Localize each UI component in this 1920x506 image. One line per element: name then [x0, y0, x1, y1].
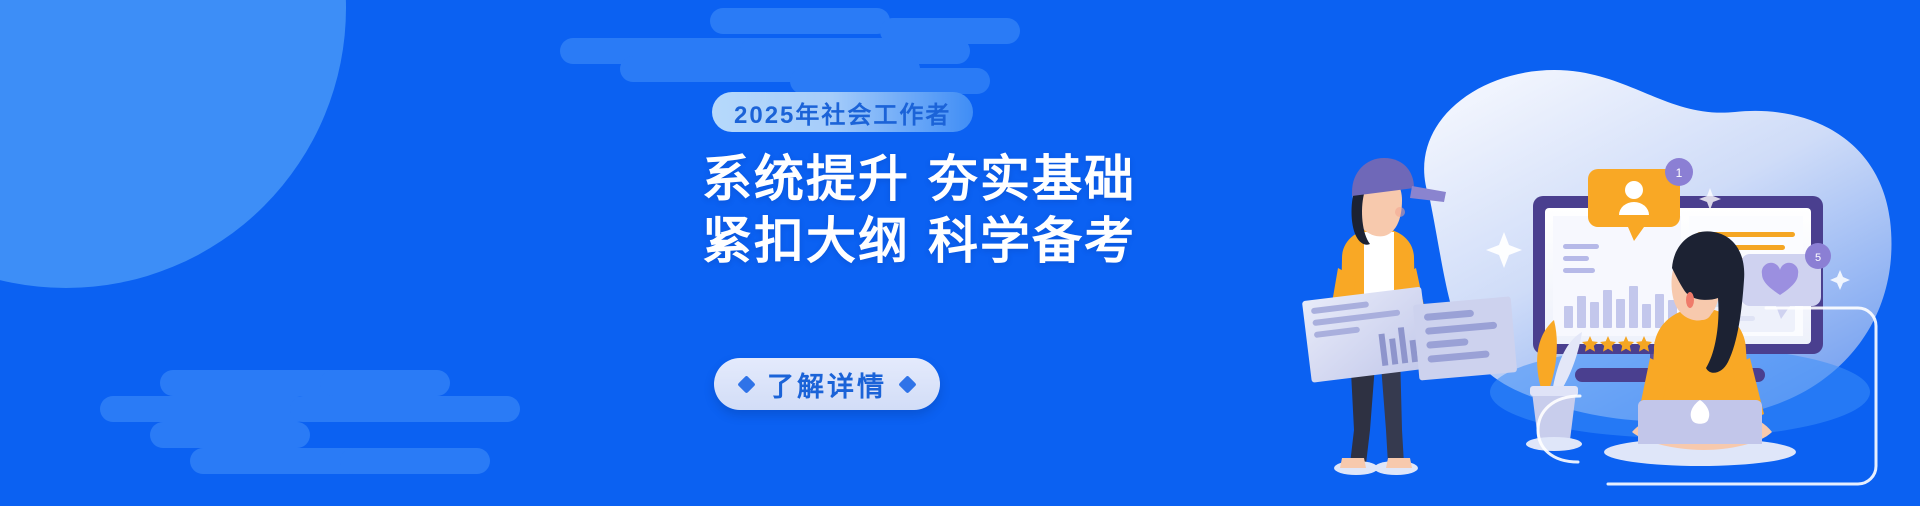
promo-banner: 2025年社会工作者 系统提升夯实基础 紧扣大纲科学备考 了解详情 — [0, 0, 1920, 506]
headline-line-1-part-a: 系统提升 — [702, 151, 910, 207]
headline-line-2-part-b: 科学备考 — [928, 213, 1136, 269]
held-document-panel-secondary — [1413, 296, 1517, 380]
campaign-tag: 2025年社会工作者 — [712, 92, 973, 132]
learn-more-button-label: 了解详情 — [767, 365, 887, 404]
headline-line-1-part-b: 夯实基础 — [928, 151, 1136, 207]
diamond-icon-left — [737, 375, 755, 393]
headline-line-2: 紧扣大纲科学备考 — [702, 210, 1222, 272]
headline-line-2-part-a: 紧扣大纲 — [702, 213, 910, 269]
monitor-bar-chart — [1553, 216, 1681, 336]
diamond-icon-right — [898, 375, 916, 393]
held-document-panel — [1302, 287, 1431, 383]
learn-more-button[interactable]: 了解详情 — [714, 358, 940, 410]
badge-count-user: 1 — [1676, 166, 1683, 180]
page-title: 系统提升夯实基础 紧扣大纲科学备考 — [702, 148, 1222, 272]
plant-pot-rim — [1530, 386, 1578, 396]
user-avatar-icon — [1625, 181, 1643, 199]
banner-text-content: 2025年社会工作者 系统提升夯实基础 紧扣大纲科学备考 了解详情 — [0, 0, 1180, 506]
hero-illustration: 1 5 — [1280, 0, 1920, 506]
headline-line-1: 系统提升夯实基础 — [702, 148, 1222, 210]
person-standing-cap — [1352, 158, 1414, 196]
campaign-tag-label: 2025年社会工作者 — [734, 95, 951, 130]
badge-count-heart: 5 — [1815, 252, 1821, 264]
